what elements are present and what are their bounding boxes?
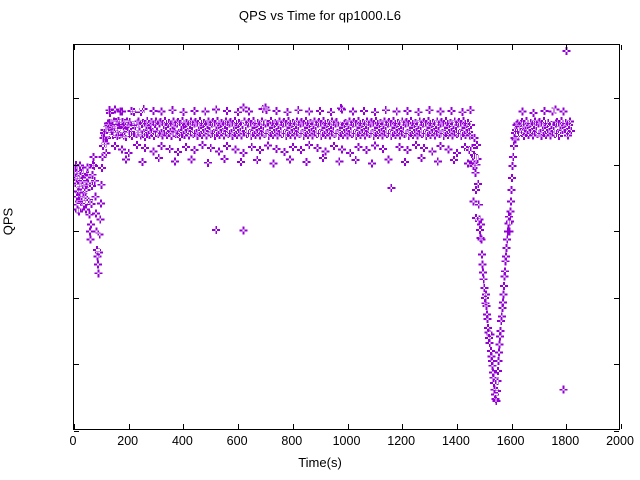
x-tick-label: 2000 [606, 434, 634, 448]
x-tick-top [621, 45, 622, 50]
x-tick-label: 0 [70, 434, 77, 448]
y-tick-right [614, 298, 619, 299]
x-tick [621, 424, 622, 429]
x-tick [402, 424, 403, 429]
y-axis-title: QPS [1, 192, 16, 252]
y-tick [74, 231, 79, 232]
y-tick-right [614, 231, 619, 232]
x-tick-label: 1800 [551, 434, 579, 448]
x-tick-top [238, 45, 239, 50]
page-title: QPS vs Time for qp1000.L6 [0, 8, 640, 23]
x-tick-label: 1600 [497, 434, 525, 448]
scatter-points [74, 45, 619, 429]
y-tick [74, 165, 79, 166]
plot-frame [73, 44, 620, 430]
x-tick [457, 424, 458, 429]
x-axis-title: Time(s) [0, 455, 640, 470]
x-tick-top [566, 45, 567, 50]
y-tick [74, 298, 79, 299]
x-tick-label: 800 [281, 434, 302, 448]
y-tick-right [614, 364, 619, 365]
y-tick [74, 98, 79, 99]
x-tick-top [129, 45, 130, 50]
x-tick-top [457, 45, 458, 50]
x-tick [566, 424, 567, 429]
x-tick-label: 400 [172, 434, 193, 448]
x-tick [183, 424, 184, 429]
x-tick [512, 424, 513, 429]
x-tick [74, 424, 75, 429]
x-tick [129, 424, 130, 429]
x-tick-label: 200 [117, 434, 138, 448]
x-tick-label: 1400 [442, 434, 470, 448]
chart-stage: QPS vs Time for qp1000.L6 pg176o2nofp.cx… [0, 0, 640, 480]
x-tick-top [74, 45, 75, 50]
x-tick [293, 424, 294, 429]
y-tick-right [614, 165, 619, 166]
x-tick-label: 1000 [333, 434, 361, 448]
x-tick-top [183, 45, 184, 50]
y-tick [74, 431, 79, 432]
x-tick-label: 1200 [387, 434, 415, 448]
data-point-marker [74, 47, 575, 405]
x-tick [238, 424, 239, 429]
y-tick-right [614, 98, 619, 99]
plot-canvas [74, 45, 619, 429]
x-tick-top [293, 45, 294, 50]
x-tick [348, 424, 349, 429]
x-tick-top [402, 45, 403, 50]
x-tick-label: 600 [227, 434, 248, 448]
y-tick-right [614, 431, 619, 432]
x-tick-top [348, 45, 349, 50]
y-tick [74, 364, 79, 365]
x-tick-top [512, 45, 513, 50]
